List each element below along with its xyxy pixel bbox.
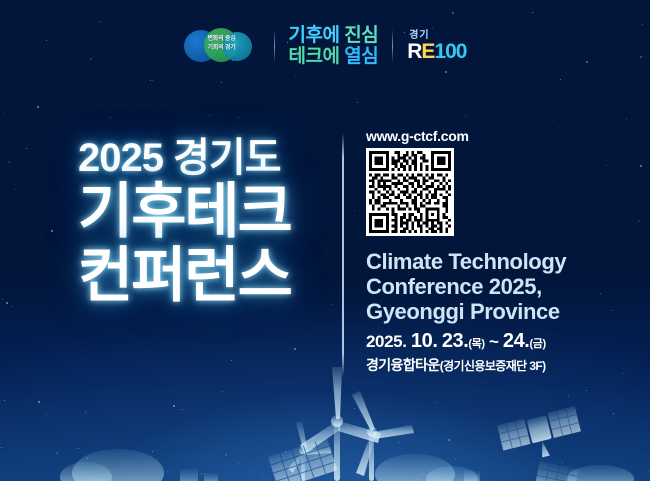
slogan-word-eager: 열심 <box>344 46 378 67</box>
star-particle <box>613 413 614 414</box>
skyline-silhouette <box>180 469 480 481</box>
star-particle <box>465 116 466 117</box>
star-particle <box>225 454 227 456</box>
satellite <box>497 406 585 466</box>
english-title: Climate Technology Conference 2025, Gyeo… <box>366 249 641 324</box>
event-venue: 경기융합타운(경기신용보증재단 3F) <box>366 357 641 375</box>
star-particle <box>568 395 569 396</box>
venue-detail: (경기신용보증재단 3F) <box>440 359 546 373</box>
cloud-shape-right <box>375 454 478 481</box>
star-particle <box>201 473 202 474</box>
solar-panel-left <box>268 438 337 481</box>
renewable-energy-illustration <box>0 361 650 481</box>
emblem-text-line1: 변화의 중심 <box>184 35 260 44</box>
title-line-conference: 컨퍼런스 <box>78 244 348 308</box>
star-particle <box>2 299 3 300</box>
re100-letter-r: R <box>407 41 421 62</box>
star-particle <box>560 79 561 80</box>
star-particle <box>416 479 417 480</box>
star-particle <box>558 126 559 127</box>
poster-header: 변화의 중심 기회의 경기 기후에 진심 테크에 열심 경기 R E <box>0 22 650 70</box>
star-particle <box>525 469 526 470</box>
re100-letter-e: E <box>421 41 434 62</box>
star-particle <box>435 402 436 403</box>
star-particle <box>231 360 232 361</box>
star-particle <box>60 473 61 474</box>
star-particle <box>295 76 296 77</box>
star-particle <box>56 452 58 454</box>
star-particle <box>596 19 597 20</box>
star-particle <box>258 116 259 117</box>
star-particle <box>167 471 169 473</box>
star-particle <box>406 425 407 426</box>
english-title-line3: Gyeonggi Province <box>366 299 641 324</box>
event-date: 2025. 10. 23.(목) ~ 24.(금) <box>366 331 641 354</box>
star-particle <box>173 405 175 407</box>
date-day-start: 23. <box>442 330 469 352</box>
re100-wordmark: R E 100 <box>407 41 466 62</box>
date-month: 10. <box>411 330 438 352</box>
date-range-separator: ~ <box>489 332 499 351</box>
solar-panel-right <box>535 461 579 481</box>
star-particle <box>448 439 450 441</box>
date-year: 2025. <box>366 332 407 351</box>
star-particle <box>239 463 240 464</box>
star-particle <box>182 409 183 410</box>
date-day-end: 24. <box>503 330 530 352</box>
date-day-start-weekday: (목) <box>468 338 484 350</box>
star-particle <box>12 306 13 307</box>
campaign-slogan: 기후에 진심 테크에 열심 <box>289 26 379 67</box>
slogan-word-sincere: 진심 <box>344 25 378 46</box>
star-particle <box>410 419 411 420</box>
star-particle <box>78 448 79 449</box>
star-particle <box>209 115 210 116</box>
wind-turbine-secondary <box>352 391 414 481</box>
slogan-word-climate: 기후에 <box>289 25 340 46</box>
star-particle <box>37 106 39 108</box>
star-particle <box>51 230 53 232</box>
star-particle <box>221 408 222 409</box>
star-particle <box>3 112 4 113</box>
conference-poster: 변화의 중심 기회의 경기 기후에 진심 테크에 열심 경기 R E <box>0 0 650 481</box>
star-particle <box>445 71 447 73</box>
star-particle <box>46 414 47 415</box>
emblem-text-line2: 기회의 경기 <box>184 44 260 53</box>
star-particle <box>38 401 40 403</box>
wind-turbine-main <box>300 367 381 481</box>
re100-zeros: 100 <box>434 41 466 62</box>
slogan-word-tech: 테크에 <box>289 46 340 67</box>
gyeonggi-province-emblem: 변화의 중심 기회의 경기 <box>184 28 260 64</box>
cloud-shape-left <box>60 449 164 481</box>
star-particle <box>399 442 400 443</box>
qr-code-image <box>369 151 451 233</box>
star-particle <box>152 80 153 81</box>
gyeonggi-re100-logo: 경기 R E 100 <box>407 31 466 62</box>
star-particle <box>222 391 223 392</box>
date-day-end-weekday: (금) <box>529 338 545 350</box>
emblem-text: 변화의 중심 기회의 경기 <box>184 35 260 53</box>
venue-name: 경기융합타운 <box>366 357 440 373</box>
english-title-line2: Conference 2025, <box>366 274 641 299</box>
star-particle <box>15 189 16 190</box>
star-particle <box>69 161 70 162</box>
star-particle <box>637 390 638 391</box>
info-column: www.g-ctcf.com <box>366 128 641 375</box>
star-particle <box>571 462 572 463</box>
star-particle <box>26 148 27 149</box>
qr-code[interactable] <box>366 148 454 236</box>
star-particle <box>269 466 270 467</box>
star-particle <box>263 476 265 478</box>
star-particle <box>575 410 576 411</box>
star-particle <box>110 117 111 118</box>
star-particle <box>294 348 296 350</box>
star-particle <box>357 102 358 103</box>
english-title-line1: Climate Technology <box>366 249 641 274</box>
star-particle <box>47 120 48 121</box>
slogan-line-2: 테크에 열심 <box>289 47 379 67</box>
star-particle <box>452 12 454 14</box>
star-particle <box>150 80 151 81</box>
star-particle <box>354 408 355 409</box>
star-particle <box>1 447 2 448</box>
star-particle <box>85 412 86 413</box>
star-particle <box>221 82 222 83</box>
website-url[interactable]: www.g-ctcf.com <box>366 128 641 144</box>
star-particle <box>354 210 355 211</box>
re100-prefix: 경기 <box>409 31 429 41</box>
star-particle <box>455 459 456 460</box>
star-particle <box>278 472 279 473</box>
star-particle <box>285 451 286 452</box>
star-particle <box>532 12 533 13</box>
title-line-climatetech: 기후테크 <box>78 180 348 244</box>
star-particle <box>181 409 182 410</box>
star-particle <box>152 451 153 452</box>
star-particle <box>238 117 239 118</box>
star-particle <box>649 471 650 472</box>
wind-turbine-small <box>288 421 331 481</box>
star-particle <box>87 458 88 459</box>
star-particle <box>626 119 627 120</box>
title-line-year: 2025 경기도 <box>78 136 348 180</box>
page-title: 2025 경기도 기후테크 컨퍼런스 <box>78 136 348 308</box>
star-particle <box>8 161 10 163</box>
slogan-line-1: 기후에 진심 <box>289 26 379 46</box>
star-particle <box>562 462 563 463</box>
cloud-shape-far-right <box>566 465 634 481</box>
star-particle <box>586 390 587 391</box>
star-particle <box>6 302 8 304</box>
star-particle <box>4 400 5 401</box>
